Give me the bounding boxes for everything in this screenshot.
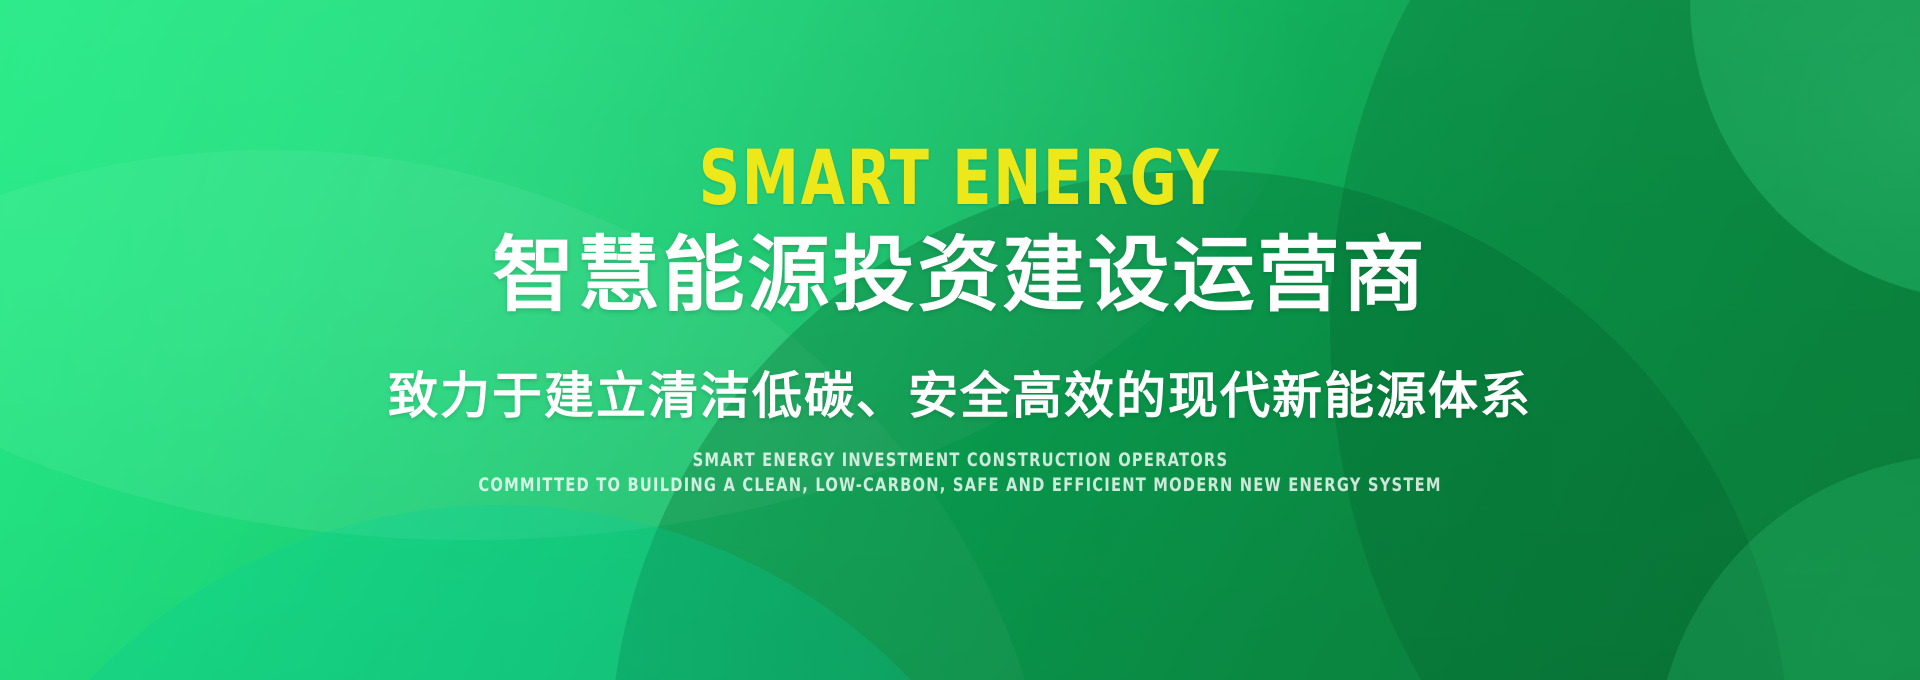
hero-eyebrow-english: SMART ENERGY	[699, 140, 1221, 216]
hero-subheadline-chinese: 致力于建立清洁低碳、安全高效的现代新能源体系	[388, 369, 1532, 424]
hero-headline-chinese: 智慧能源投资建设运营商	[492, 232, 1427, 321]
hero-text-block: SMART ENERGY 智慧能源投资建设运营商 致力于建立清洁低碳、安全高效的…	[0, 0, 1920, 680]
hero-caption-english-line-2: COMMITTED TO BUILDING A CLEAN, LOW-CARBO…	[478, 473, 1441, 499]
hero-banner: SMART ENERGY 智慧能源投资建设运营商 致力于建立清洁低碳、安全高效的…	[0, 0, 1920, 680]
hero-caption-english-line-1: SMART ENERGY INVESTMENT CONSTRUCTION OPE…	[692, 448, 1228, 474]
